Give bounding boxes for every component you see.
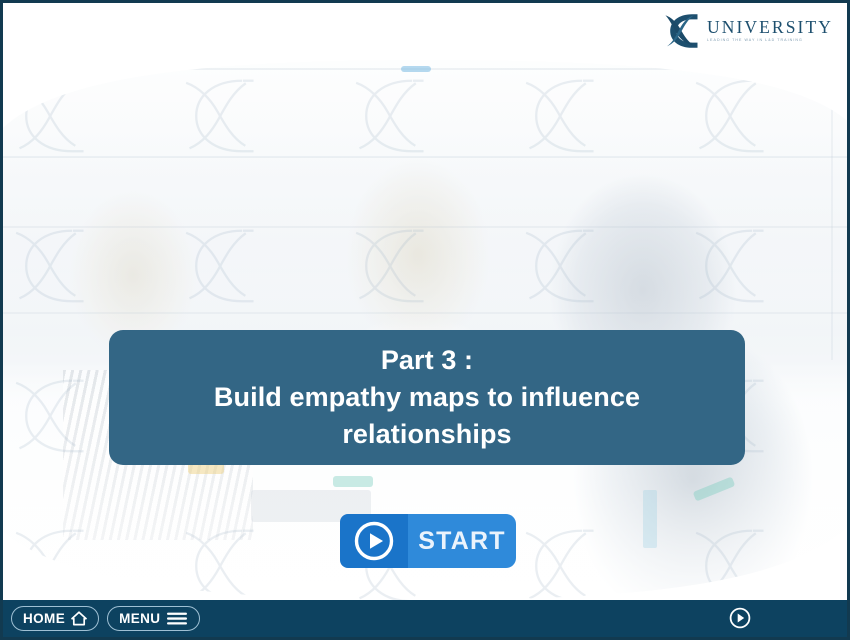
slide-stage: Part 3 : Build empathy maps to influence…	[3, 60, 847, 600]
play-circle-icon	[728, 606, 752, 630]
slide-title: Part 3 : Build empathy maps to influence…	[196, 342, 658, 454]
start-button[interactable]: START	[340, 514, 516, 568]
title-line-1: Part 3 :	[214, 342, 640, 379]
brand-tagline: LEADING THE WAY IN L&D TRAINING	[707, 39, 833, 43]
brand-name: UNIVERSITY	[707, 19, 833, 37]
bottom-navigation-bar: HOME MENU	[3, 600, 847, 637]
home-icon	[71, 611, 87, 626]
start-button-label-box[interactable]: START	[408, 514, 516, 568]
next-button[interactable]	[728, 606, 752, 630]
hamburger-menu-icon	[166, 611, 188, 626]
brand-logo: UNIVERSITY LEADING THE WAY IN L&D TRAINI…	[662, 11, 833, 51]
menu-button[interactable]: MENU	[107, 606, 200, 631]
course-slide: UNIVERSITY LEADING THE WAY IN L&D TRAINI…	[0, 0, 850, 640]
start-button-icon-box[interactable]	[340, 514, 408, 568]
title-panel: Part 3 : Build empathy maps to influence…	[109, 330, 745, 465]
play-circle-icon	[353, 520, 395, 562]
x-monogram-icon	[662, 11, 706, 51]
menu-button-label: MENU	[119, 611, 160, 626]
start-button-label: START	[418, 527, 505, 556]
home-button-label: HOME	[23, 611, 65, 626]
title-line-3: relationships	[214, 416, 640, 453]
slide-header: UNIVERSITY LEADING THE WAY IN L&D TRAINI…	[3, 3, 847, 60]
home-button[interactable]: HOME	[11, 606, 99, 631]
title-line-2: Build empathy maps to influence	[214, 379, 640, 416]
